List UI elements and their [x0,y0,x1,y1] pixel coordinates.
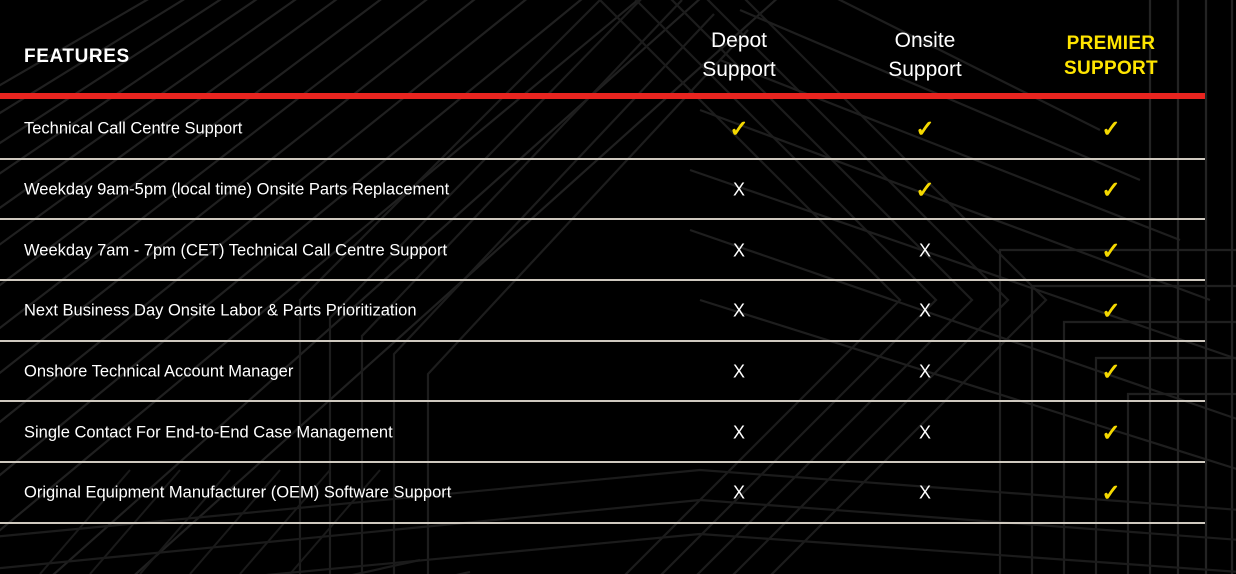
feature-label: Onshore Technical Account Manager [24,363,293,382]
cell-depot: X [654,241,824,260]
feature-label: Weekday 9am-5pm (local time) Onsite Part… [24,181,449,200]
check-icon: ✓ [915,118,934,141]
feature-label: Next Business Day Onsite Labor & Parts P… [24,302,417,321]
column-header-onsite-line1: Onsite [840,26,1010,55]
cell-premier: ✓ [1026,421,1196,444]
check-icon: ✓ [729,118,748,141]
cell-onsite: X [840,241,1010,260]
cell-premier: ✓ [1026,361,1196,384]
table-row: Weekday 9am-5pm (local time) Onsite Part… [0,160,1236,221]
cross-icon: X [919,302,931,320]
header-red-rule [0,93,1205,99]
column-header-premier-line1: PREMIER [1026,31,1196,56]
column-header-depot-line1: Depot [654,26,824,55]
feature-label: Weekday 7am - 7pm (CET) Technical Call C… [24,241,447,260]
check-icon: ✓ [1101,361,1120,384]
column-header-onsite-support: Onsite Support [840,26,1010,84]
cross-icon: X [733,241,745,259]
table-row: Technical Call Centre Support ✓ ✓ ✓ [0,99,1236,160]
cross-icon: X [919,423,931,441]
table-row: Single Contact For End-to-End Case Manag… [0,402,1236,463]
cell-depot: X [654,363,824,382]
check-icon: ✓ [1101,179,1120,202]
column-header-depot-line2: Support [654,55,824,84]
cross-icon: X [733,302,745,320]
row-divider [0,522,1205,524]
cell-depot: X [654,181,824,200]
cell-onsite: X [840,363,1010,382]
cell-onsite: X [840,423,1010,442]
table-row: Original Equipment Manufacturer (OEM) So… [0,463,1236,524]
cell-depot: ✓ [654,118,824,141]
features-column-header: FEATURES [24,46,130,68]
table-row: Onshore Technical Account Manager X X ✓ [0,342,1236,403]
cross-icon: X [919,241,931,259]
cell-premier: ✓ [1026,300,1196,323]
cell-depot: X [654,423,824,442]
cell-onsite: X [840,484,1010,503]
table-row: Weekday 7am - 7pm (CET) Technical Call C… [0,220,1236,281]
cross-icon: X [919,484,931,502]
feature-label: Single Contact For End-to-End Case Manag… [24,423,393,442]
support-comparison-table: FEATURES Depot Support Onsite Support PR… [0,0,1236,574]
cell-depot: X [654,302,824,321]
check-icon: ✓ [1101,421,1120,444]
cell-onsite: X [840,302,1010,321]
cross-icon: X [733,363,745,381]
table-header: FEATURES Depot Support Onsite Support PR… [0,0,1236,95]
feature-label: Original Equipment Manufacturer (OEM) So… [24,484,451,503]
check-icon: ✓ [915,179,934,202]
check-icon: ✓ [1101,300,1120,323]
cell-onsite: ✓ [840,118,1010,141]
table-body: Technical Call Centre Support ✓ ✓ ✓ Week… [0,99,1236,524]
check-icon: ✓ [1101,118,1120,141]
cell-premier: ✓ [1026,482,1196,505]
cell-premier: ✓ [1026,239,1196,262]
cross-icon: X [733,423,745,441]
column-header-premier-line2: SUPPORT [1026,56,1196,81]
cell-depot: X [654,484,824,503]
cell-premier: ✓ [1026,118,1196,141]
table-row: Next Business Day Onsite Labor & Parts P… [0,281,1236,342]
check-icon: ✓ [1101,239,1120,262]
cell-premier: ✓ [1026,179,1196,202]
check-icon: ✓ [1101,482,1120,505]
cell-onsite: ✓ [840,179,1010,202]
cross-icon: X [733,181,745,199]
support-comparison-screen: FEATURES Depot Support Onsite Support PR… [0,0,1236,574]
cross-icon: X [919,363,931,381]
cross-icon: X [733,484,745,502]
column-header-premier-support: PREMIER SUPPORT [1026,31,1196,81]
column-header-onsite-line2: Support [840,55,1010,84]
feature-label: Technical Call Centre Support [24,120,242,139]
column-header-depot-support: Depot Support [654,26,824,84]
